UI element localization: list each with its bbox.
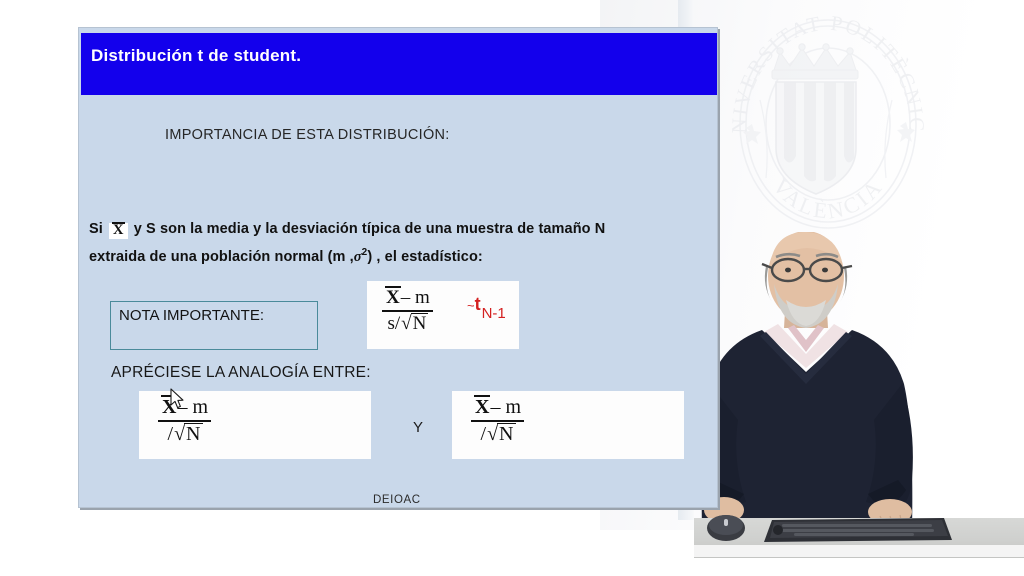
statement-line-2: extraida de una población normal (m ,σ2)… [89, 247, 483, 266]
importance-heading: IMPORTANCIA DE ESTA DISTRIBUCIÓN: [165, 127, 450, 143]
analogy-right-fraction: X– m /√N [470, 396, 525, 446]
analogy-right-formula-panel: X– m /√N [452, 391, 684, 459]
desk-peripherals [694, 498, 1024, 558]
sigma-symbol: σ [354, 249, 362, 265]
degrees-of-freedom-subscript: N-1 [482, 305, 506, 322]
tilde-symbol: ~ [467, 298, 475, 313]
nota-importante-box: NOTA IMPORTANTE: [110, 301, 318, 350]
mouse-device [707, 515, 745, 541]
square-root-symbol: √N [400, 313, 427, 335]
keyboard-device [764, 518, 952, 542]
t-letter: t [475, 294, 481, 314]
analogy-left-numerator: X– m [157, 396, 212, 420]
video-stage: UNIVERSITAT POLITÈCNICA VALÈNCIA [0, 0, 1024, 576]
t-statistic-numerator: X– m [381, 287, 434, 310]
t-statistic-fraction: X– m s/√N [381, 287, 434, 335]
slide-footer-code: DEIOAC [373, 494, 421, 506]
presentation-slide: Distribución t de student. IMPORTANCIA D… [78, 27, 718, 508]
t-statistic-denominator: s/√N [381, 312, 434, 335]
analogy-left-fraction: X– m /√N [157, 396, 212, 446]
statement-line-1-prefix: Si [89, 221, 103, 237]
statement-line-2-suffix: ) , el estadístico: [367, 249, 483, 265]
statement-line-2-prefix: extraida de una población normal (m , [89, 249, 354, 265]
square-root-symbol: √N [486, 423, 514, 446]
analogy-left-denominator: /√N [157, 422, 212, 446]
statement-line-1: Si X y S son la media y la desviación tí… [89, 221, 605, 239]
statement-line-1-suffix: y S son la media y la desviación típica … [134, 221, 606, 237]
nota-importante-label: NOTA IMPORTANTE: [119, 307, 264, 324]
t-statistic-formula-panel: X– m s/√N ~tN-1 [367, 281, 519, 349]
analogy-left-formula-panel: X– m /√N [139, 391, 371, 459]
analogy-conjunction: Y [413, 419, 423, 436]
slide-body: IMPORTANCIA DE ESTA DISTRIBUCIÓN: Si X y… [79, 95, 717, 507]
x-bar-boxed-symbol: X [109, 223, 128, 239]
page-title: Distribución t de student. [91, 46, 301, 66]
analogy-right-denominator: /√N [470, 422, 525, 446]
analogy-heading: APRÉCIESE LA ANALOGÍA ENTRE: [111, 364, 371, 382]
square-root-symbol: √N [173, 423, 201, 446]
t-distribution-notation: ~tN-1 [467, 294, 505, 315]
analogy-right-numerator: X– m [470, 396, 525, 420]
